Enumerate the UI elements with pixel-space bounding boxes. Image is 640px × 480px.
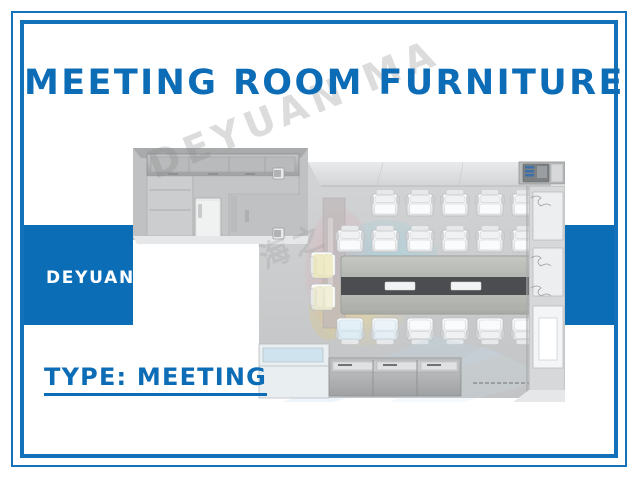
sideboard-cabinets xyxy=(329,358,461,396)
brand-name: DEYUAN MARINE xyxy=(46,268,228,288)
wall-console xyxy=(519,162,565,184)
entry-door xyxy=(195,198,221,238)
top-wall xyxy=(308,162,551,186)
table-runner xyxy=(341,277,559,295)
conference-table xyxy=(341,256,559,314)
slide-canvas: MEETING ROOM FURNITURE xyxy=(0,0,640,480)
page-title: MEETING ROOM FURNITURE xyxy=(24,62,616,104)
window-bay xyxy=(529,186,565,396)
type-label: TYPE: MEETING xyxy=(44,362,267,396)
control-panel xyxy=(523,164,549,182)
counter-unit xyxy=(259,344,329,398)
